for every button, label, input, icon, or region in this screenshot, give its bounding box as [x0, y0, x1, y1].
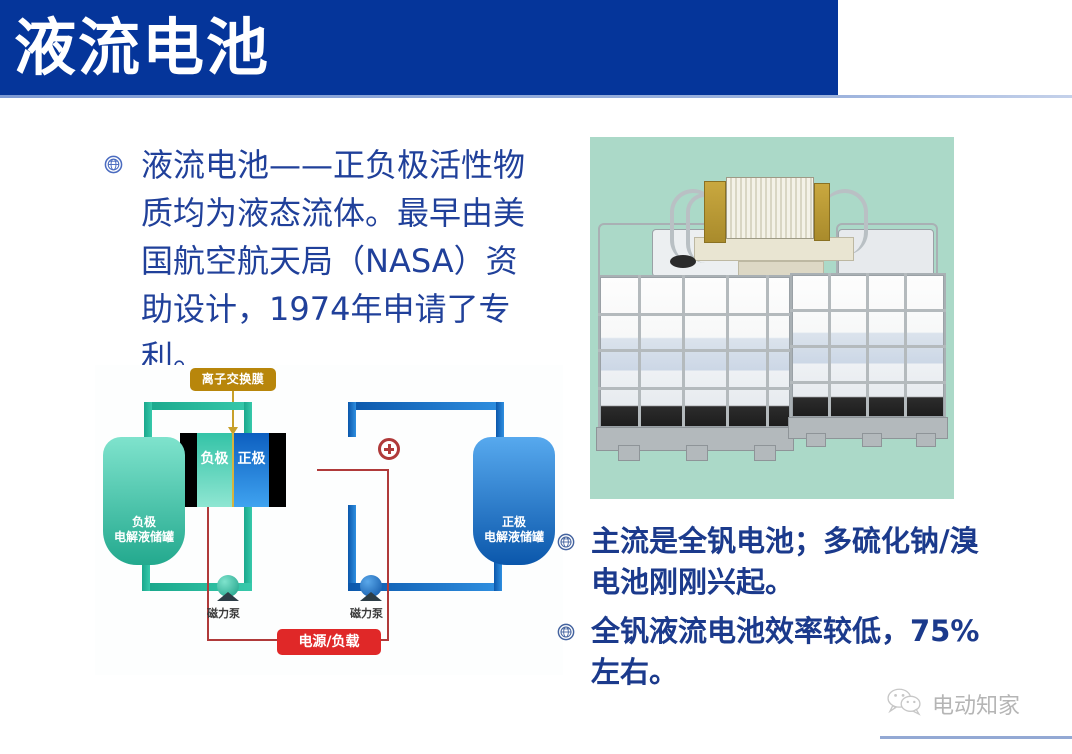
pump-right-label: 磁力泵 [350, 605, 383, 621]
globe-bullet-icon [557, 623, 575, 641]
globe-bullet-icon [557, 533, 575, 551]
right-bullet-text-2: 全钒液流电池效率较低，75%左右。 [591, 611, 983, 693]
pipe-neg-top [144, 402, 252, 410]
right-bullet-text-1: 主流是全钒电池；多硫化钠/溴电池刚刚兴起。 [591, 521, 983, 603]
positive-tank-label-line2: 电解液储罐 [473, 530, 555, 545]
globe-bullet-icon [104, 155, 123, 174]
pipe-pos-return-v [348, 505, 356, 591]
list-item: 全钒液流电池效率较低，75%左右。 [557, 611, 997, 693]
negative-electrolyte-tank: 负极 电解液储罐 [103, 437, 185, 565]
wire-pos-horizontal [317, 469, 389, 471]
pump-left-base-icon [217, 592, 239, 601]
header-logo-area [838, 0, 1072, 95]
pipe-pos-to-cell [348, 402, 356, 437]
footer-divider [880, 736, 1072, 739]
left-bullet-text: 液流电池——正负极活性物质均为液态流体。最早由美国航空航天局（NASA）资助设计… [141, 141, 531, 381]
flow-battery-photo [590, 137, 954, 499]
endplate-right [269, 433, 286, 507]
positive-half-cell [234, 433, 269, 507]
list-item: 液流电池——正负极活性物质均为液态流体。最早由美国航空航天局（NASA）资助设计… [104, 141, 534, 381]
power-load-label: 电源/负载 [277, 629, 381, 655]
negative-tank-label-line1: 负极 [103, 515, 185, 530]
pipe-neg-to-cell [244, 402, 252, 437]
negative-tank-label-line2: 电解液储罐 [103, 530, 185, 545]
left-bullet-block: 液流电池——正负极活性物质均为液态流体。最早由美国航空航天局（NASA）资助设计… [104, 141, 534, 381]
pump-left-label: 磁力泵 [207, 605, 240, 621]
watermark: 电动知家 [884, 686, 1020, 721]
positive-tank-label-line1: 正极 [473, 515, 555, 530]
negative-electrode-label: 负极 [197, 451, 232, 468]
positive-terminal-icon [378, 438, 400, 460]
positive-electrode-label: 正极 [234, 451, 269, 468]
pump-right-base-icon [360, 592, 382, 601]
flow-battery-diagram: 离子交换膜 负极 正极 负极 电解液储罐 正极 电解液储罐 [95, 365, 563, 675]
right-bullet-block: 主流是全钒电池；多硫化钠/溴电池刚刚兴起。 全钒液流电池效率较低，75%左右。 [557, 521, 997, 701]
pipe-pos-top [348, 402, 504, 410]
membrane-label: 离子交换膜 [190, 368, 276, 391]
negative-half-cell [197, 433, 232, 507]
wire-pos-vertical [387, 469, 389, 641]
watermark-text: 电动知家 [932, 688, 1020, 720]
pipe-neg-return-v [244, 505, 252, 591]
list-item: 主流是全钒电池；多硫化钠/溴电池刚刚兴起。 [557, 521, 997, 603]
electrode-stack: 负极 正极 [180, 433, 286, 507]
positive-electrolyte-tank: 正极 电解液储罐 [473, 437, 555, 565]
page-title: 液流电池 [14, 6, 270, 90]
wechat-icon [884, 686, 924, 721]
header-divider [0, 95, 1072, 98]
